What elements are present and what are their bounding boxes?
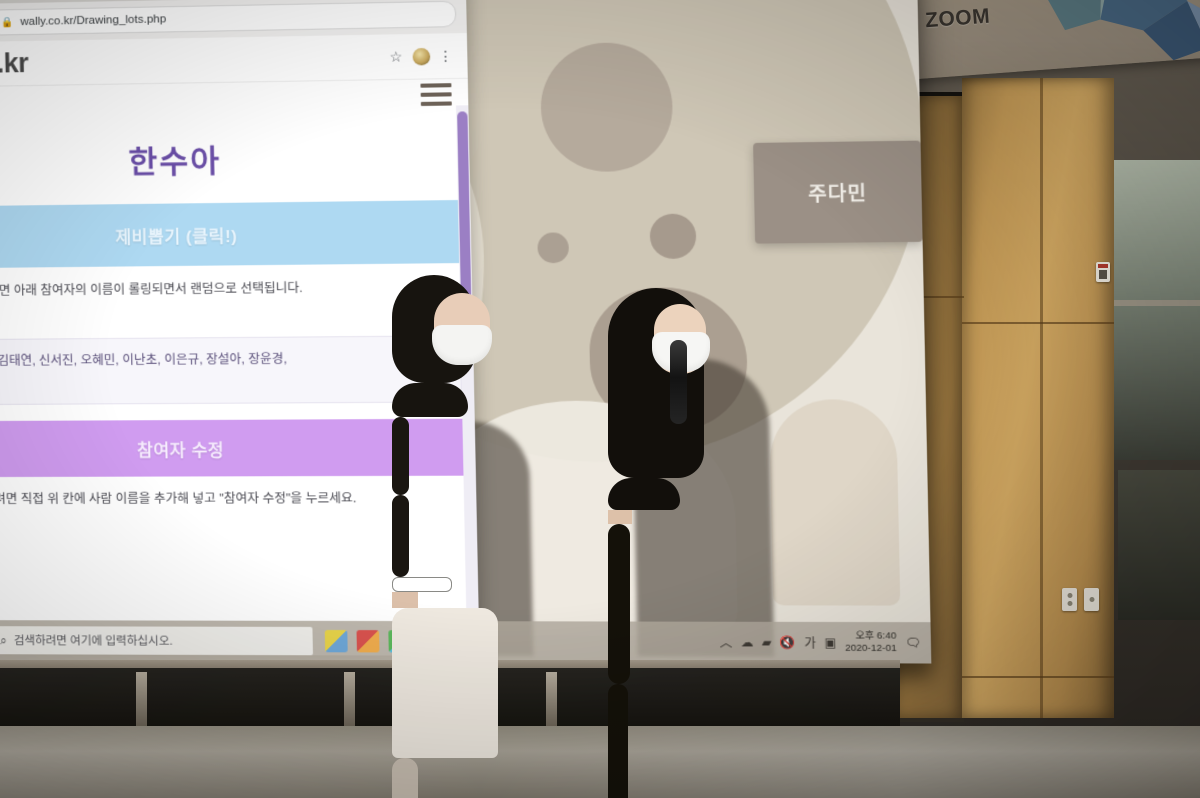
bookmark-star-icon[interactable]: ☆ — [389, 48, 402, 65]
wallpaper-blob — [649, 213, 696, 259]
taskbar-search-box[interactable]: ⌕ 검색하려면 여기에 입력하십시오. — [0, 626, 313, 655]
keyboard-icon[interactable]: ▰ — [762, 635, 772, 649]
pillar-corner-edge — [1040, 78, 1043, 718]
wallpaper-blob — [537, 232, 569, 263]
site-title: wally.co.kr — [0, 47, 29, 80]
clock-date: 2020-12-01 — [845, 643, 897, 656]
hair-side — [392, 417, 409, 495]
taskbar-clock[interactable]: 오후 6:40 2020-12-01 — [845, 630, 897, 655]
taskbar-app-icon[interactable] — [356, 630, 379, 652]
riser-light-strip — [136, 672, 147, 726]
desktop-name-card: 주다민 — [753, 141, 923, 244]
search-icon: ⌕ — [0, 633, 7, 648]
sleeve-left — [392, 758, 418, 798]
riser-light-strip — [344, 672, 355, 726]
presenter-left — [392, 275, 532, 798]
ime-korean-icon[interactable]: 가 — [804, 634, 816, 652]
right-window-lower — [1118, 470, 1200, 620]
draw-lots-button[interactable]: 제비뽑기 (클릭!) — [0, 200, 472, 269]
presentation-scene: TUE 18:00 장소 CLC 4층 비전홀 및 ZOOM — [0, 0, 1200, 798]
pillar-seam — [962, 322, 1114, 324]
power-outlet — [1084, 588, 1099, 611]
tray-app-icon[interactable]: ▣ — [824, 635, 836, 649]
search-placeholder: 검색하려면 여기에 입력하십시오. — [14, 632, 173, 649]
system-tray: ︿ ☁ ▰ 🔇 가 ▣ 오후 6:40 2020-12-01 🗨 — [719, 630, 931, 655]
floor-reflection — [0, 726, 1200, 798]
three-dot-menu-icon[interactable]: ⋮ — [438, 47, 453, 65]
clock-time: 오후 6:40 — [855, 630, 896, 642]
hair-side — [392, 495, 409, 577]
wood-pillar — [962, 78, 1114, 718]
neck — [608, 510, 632, 524]
taskbar-app-icon[interactable] — [325, 630, 348, 652]
page-title: 한수아 — [0, 105, 470, 207]
speaker-mute-icon[interactable]: 🔇 — [780, 635, 796, 649]
pillar-seam — [962, 676, 1114, 678]
fire-alarm-panel — [1096, 262, 1110, 282]
shirt — [392, 608, 498, 758]
address-bar-url: wally.co.kr/Drawing_lots.php — [20, 13, 166, 28]
wallpaper-blob — [769, 399, 900, 606]
hair-fringe — [392, 383, 468, 417]
description-line-2: 행운을 빌어요~ — [0, 297, 454, 322]
hair-side — [608, 684, 628, 798]
face-mask — [432, 325, 492, 365]
notification-icon[interactable]: 🗨 — [905, 636, 922, 651]
eyeglasses — [392, 577, 452, 592]
lock-icon: 🔒 — [1, 17, 14, 28]
hair-fringe — [608, 478, 680, 510]
profile-avatar[interactable] — [412, 47, 430, 65]
window-mullion — [1112, 300, 1200, 306]
riser-light-strip — [546, 672, 557, 726]
microphone — [670, 340, 687, 424]
neck — [392, 592, 418, 608]
power-outlet — [1062, 588, 1077, 611]
presenter-right — [608, 288, 748, 798]
participants-line-2: 주다민 — [0, 369, 448, 394]
hair-side — [608, 524, 630, 684]
hamburger-menu-icon[interactable] — [420, 83, 451, 106]
address-bar[interactable]: 🔒 wally.co.kr/Drawing_lots.php — [0, 1, 456, 36]
right-window — [1112, 160, 1200, 460]
name-card-label: 주다민 — [808, 178, 867, 207]
